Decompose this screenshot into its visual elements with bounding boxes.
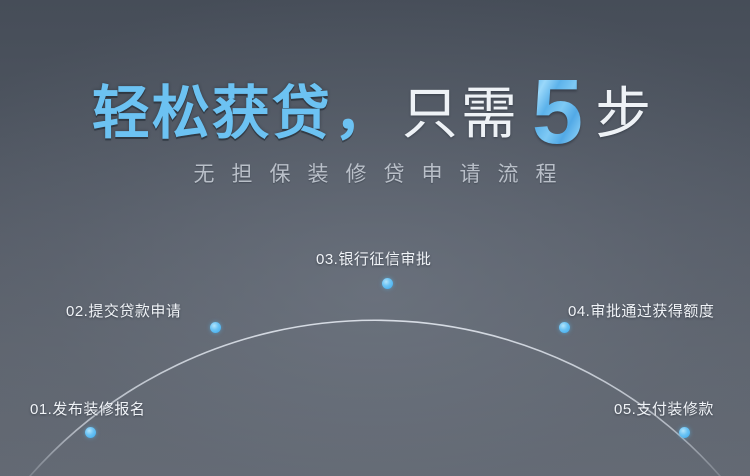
step-03-dot[interactable] <box>382 278 393 289</box>
step-03-label: 03.银行征信审批 <box>316 248 431 269</box>
step-01-label: 01.发布装修报名 <box>30 398 145 419</box>
step-02-label: 02.提交贷款申请 <box>66 300 181 321</box>
step-04-label: 04.审批通过获得额度 <box>568 300 714 321</box>
step-01-dot[interactable] <box>85 427 96 438</box>
promo-banner: 轻松获贷，只需5步 无担保装修贷申请流程 01.发布装修报名 02.提交贷款申请… <box>0 0 750 476</box>
step-05-dot[interactable] <box>679 427 690 438</box>
step-02-dot[interactable] <box>210 322 221 333</box>
step-05-label: 05.支付装修款 <box>614 398 714 419</box>
step-04-dot[interactable] <box>559 322 570 333</box>
